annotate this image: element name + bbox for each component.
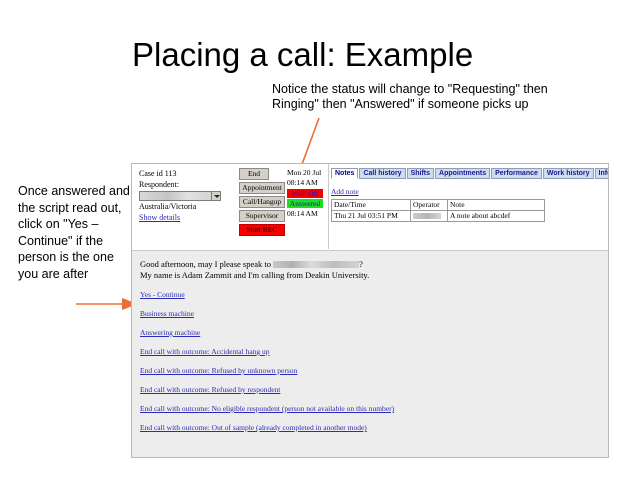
tab-work-history[interactable]: Work history	[543, 168, 594, 179]
notes-table-header-row: Date/Time Operator Note	[332, 200, 545, 211]
script-line-2: My name is Adam Zammit and I'm calling f…	[140, 270, 608, 281]
notes-col-note: Note	[448, 200, 545, 211]
link-outcome-accidental-hangup[interactable]: End call with outcome: Accidental hang u…	[140, 347, 270, 357]
script-line-1-after: ?	[359, 259, 363, 269]
case-info-block: Case id 113 Respondent: Australia/Victor…	[139, 169, 235, 223]
script-body: Good afternoon, may I please speak to ? …	[132, 251, 608, 458]
application-screenshot: Case id 113 Respondent: Australia/Victor…	[131, 163, 609, 458]
call-hangup-button[interactable]: Call/Hangup	[239, 196, 285, 208]
script-line-1-before: Good afternoon, may I please speak to	[140, 259, 273, 269]
status-date: Mon 20 Jul	[287, 168, 327, 178]
tab-performance[interactable]: Performance	[491, 168, 542, 179]
panel-divider	[328, 164, 329, 249]
note-datetime: Thu 21 Jul 03:51 PM	[332, 211, 411, 222]
link-business-machine[interactable]: Business machine	[140, 309, 194, 319]
status-badge-voip: VoIP Off	[287, 189, 323, 198]
note-text: A note about abcdef	[448, 211, 545, 222]
tab-call-history[interactable]: Call history	[359, 168, 405, 179]
respondent-label: Respondent:	[139, 180, 235, 191]
notes-table: Date/Time Operator Note Thu 21 Jul 03:51…	[331, 199, 545, 222]
notes-col-operator: Operator	[411, 200, 448, 211]
note-operator	[411, 211, 448, 222]
link-answering-machine[interactable]: Answering machine	[140, 328, 200, 338]
tab-info[interactable]: Info	[595, 168, 609, 179]
link-outcome-refused-respondent[interactable]: End call with outcome: Refused by respon…	[140, 385, 280, 395]
tab-bar: Notes Call history Shifts Appointments P…	[331, 168, 606, 179]
call-action-buttons: End Appointment Call/Hangup Supervisor S…	[239, 168, 287, 238]
app-top-bar: Case id 113 Respondent: Australia/Victor…	[132, 164, 608, 251]
chevron-down-icon[interactable]	[211, 192, 220, 200]
status-badge-call-state: Answered	[287, 199, 323, 208]
annotation-status-note-line2: Ringing" then "Answered" if someone pick…	[272, 97, 602, 112]
redacted-respondent-name	[273, 261, 359, 268]
notes-col-datetime: Date/Time	[332, 200, 411, 211]
supervisor-button[interactable]: Supervisor	[239, 210, 285, 222]
page-title: Placing a call: Example	[132, 36, 473, 74]
end-button[interactable]: End	[239, 168, 269, 180]
outcome-link-list: Yes - Continue Business machine Answerin…	[140, 290, 608, 433]
appointment-button[interactable]: Appointment	[239, 182, 285, 194]
case-id-label: Case id 113	[139, 169, 235, 180]
annotation-status-note-line1: Notice the status will change to "Reques…	[272, 82, 602, 97]
tab-appointments[interactable]: Appointments	[435, 168, 490, 179]
slide-canvas: Placing a call: Example Notice the statu…	[0, 0, 640, 480]
annotation-status-note: Notice the status will change to "Reques…	[272, 82, 602, 112]
tab-notes[interactable]: Notes	[331, 168, 358, 179]
link-outcome-out-of-sample[interactable]: End call with outcome: Out of sample (al…	[140, 423, 367, 433]
table-row[interactable]: Thu 21 Jul 03:51 PM A note about abcdef	[332, 211, 545, 222]
link-outcome-refused-unknown-person[interactable]: End call with outcome: Refused by unknow…	[140, 366, 297, 376]
annotation-yes-continue-note: Once answered and the script read out, c…	[18, 183, 130, 282]
notes-panel: Add note Date/Time Operator Note Thu 21 …	[331, 181, 606, 248]
respondent-select[interactable]	[139, 191, 221, 201]
add-note-link[interactable]: Add note	[331, 187, 359, 196]
tab-shifts[interactable]: Shifts	[407, 168, 434, 179]
show-details-link[interactable]: Show details	[139, 213, 235, 224]
link-yes-continue[interactable]: Yes - Continue	[140, 290, 185, 300]
timezone-label: Australia/Victoria	[139, 202, 235, 213]
redacted-operator	[413, 213, 441, 219]
annotation-arrow-to-yes-continue	[76, 297, 138, 311]
link-outcome-no-eligible-respondent[interactable]: End call with outcome: No eligible respo…	[140, 404, 394, 414]
call-status-block: Mon 20 Jul 08:14 AM VoIP Off Answered 08…	[287, 168, 327, 219]
start-rec-button[interactable]: Start REC	[239, 224, 285, 236]
script-line-1: Good afternoon, may I please speak to ?	[140, 259, 608, 270]
status-time-top: 08:14 AM	[287, 178, 327, 188]
status-time-bottom: 08:14 AM	[287, 209, 327, 219]
